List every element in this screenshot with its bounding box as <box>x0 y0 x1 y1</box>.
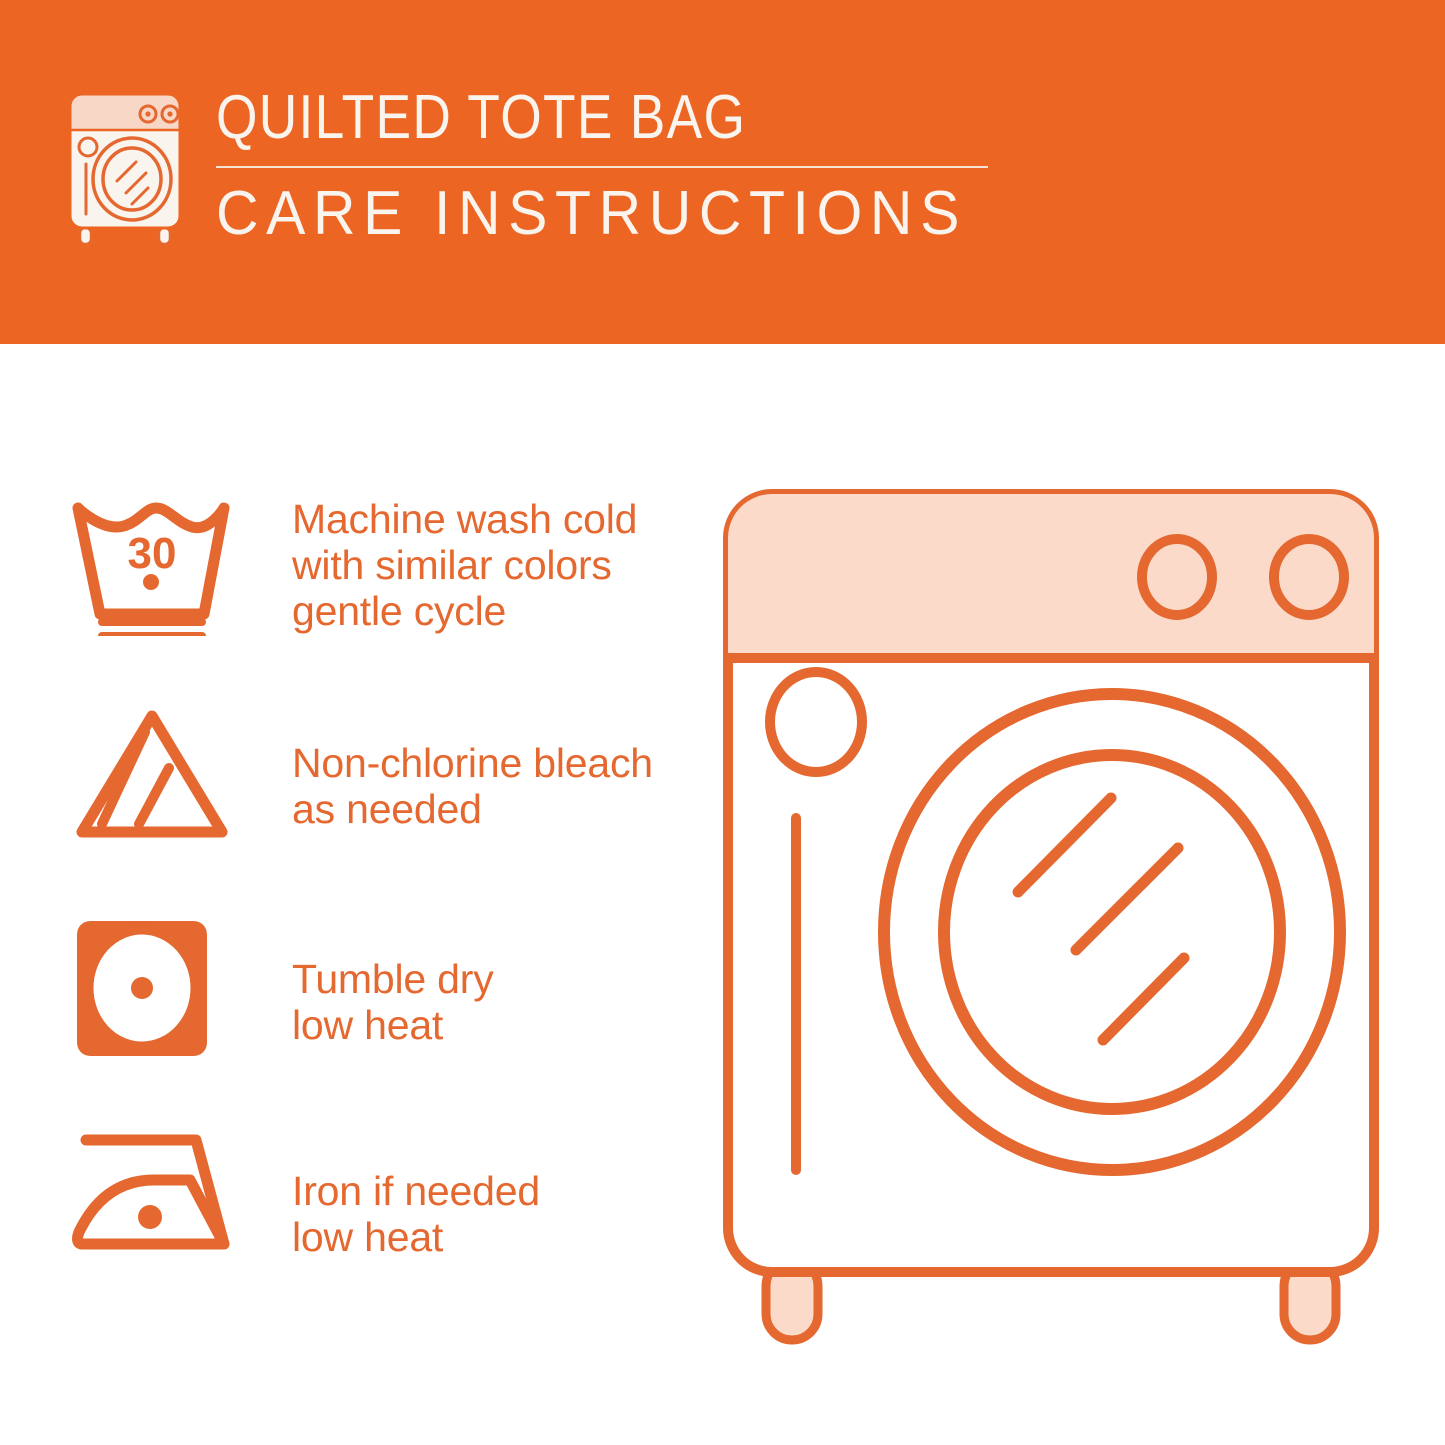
care-row-bleach: Non-chlorine bleach as needed <box>72 706 692 916</box>
care-symbol-wrapper <box>72 916 237 1061</box>
care-text-iron: Iron if needed low heat <box>292 1168 540 1260</box>
care-symbol-wrapper <box>72 1126 237 1261</box>
care-row-machine-wash: 30 Machine wash cold with similar colors… <box>72 496 692 706</box>
title-divider <box>216 166 988 168</box>
care-instructions-heading: CARE INSTRUCTIONS <box>216 182 967 246</box>
tumble-dry-icon <box>72 916 232 1061</box>
header-content: QUILTED TOTE BAG CARE INSTRUCTIONS <box>60 86 1006 246</box>
care-symbol-wrapper: 30 <box>72 496 237 636</box>
header-title-group: QUILTED TOTE BAG CARE INSTRUCTIONS <box>216 86 1006 246</box>
washing-machine-icon <box>60 88 190 246</box>
iron-icon <box>72 1126 237 1261</box>
page-title: QUILTED TOTE BAG <box>216 86 895 150</box>
care-text-machine-wash: Machine wash cold with similar colors ge… <box>292 496 637 634</box>
care-row-tumble-dry: Tumble dry low heat <box>72 916 692 1126</box>
care-instructions-list: 30 Machine wash cold with similar colors… <box>72 496 692 1336</box>
bleach-triangle-icon <box>72 706 232 846</box>
care-row-iron: Iron if needed low heat <box>72 1126 692 1336</box>
header-band: QUILTED TOTE BAG CARE INSTRUCTIONS <box>0 0 1445 344</box>
care-text-bleach: Non-chlorine bleach as needed <box>292 740 653 832</box>
care-symbol-wrapper <box>72 706 237 846</box>
svg-text:30: 30 <box>128 529 177 578</box>
wash-tub-icon: 30 <box>72 496 232 636</box>
care-text-tumble-dry: Tumble dry low heat <box>292 956 494 1048</box>
washing-machine-illustration <box>718 480 1398 1370</box>
